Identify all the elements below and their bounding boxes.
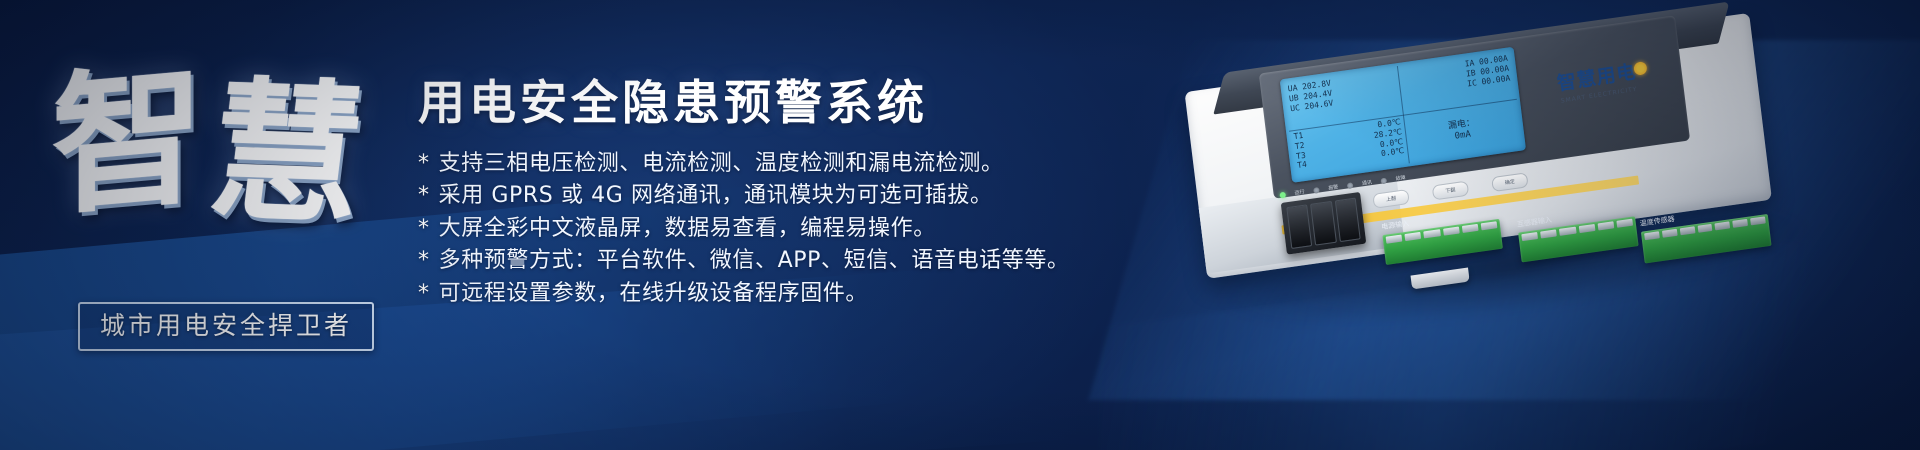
feature-item: *多种预警方式：平台软件、微信、APP、短信、语音电话等等。 — [418, 245, 1138, 278]
calligraphy-brand: 智 慧 — [45, 12, 429, 275]
terminal-pin — [1443, 227, 1460, 236]
feature-text: 多种预警方式：平台软件、微信、APP、短信、语音电话等等。 — [439, 248, 1070, 273]
calligraphy-char-1: 智 — [51, 58, 206, 223]
terminal-pin — [1715, 221, 1731, 230]
bullet-marker-icon: * — [418, 248, 430, 273]
feature-text: 采用 GPRS 或 4G 网络通讯，通讯模块为可选可插拔。 — [439, 183, 993, 208]
terminal-pin — [1462, 224, 1479, 233]
connector-slot — [1310, 201, 1336, 246]
terminal-pin — [1733, 219, 1749, 228]
terminal-pin — [1697, 224, 1713, 233]
slogan-box: 城市用电安全捍卫者 — [78, 302, 374, 351]
terminal-pin — [1424, 229, 1441, 238]
terminal-pin — [1540, 229, 1557, 238]
terminal-pin — [1521, 232, 1538, 241]
bullet-marker-icon: * — [418, 183, 430, 208]
bullet-marker-icon: * — [418, 281, 430, 306]
led-label-alarm: 报警 — [1328, 183, 1339, 191]
sun-icon — [1633, 61, 1648, 76]
feature-item: *支持三相电压检测、电流检测、温度检测和漏电流检测。 — [418, 148, 1138, 181]
terminal-pin — [1616, 219, 1633, 228]
terminal-pin — [1662, 229, 1678, 238]
lcd-leakage-value: 0mA — [1454, 130, 1471, 143]
feature-text: 支持三相电压检测、电流检测、温度检测和漏电流检测。 — [439, 151, 1004, 176]
feature-item: *大屏全彩中文液晶屏，数据易查看，编程易操作。 — [418, 213, 1138, 246]
feature-text: 可远程设置参数，在线升级设备程序固件。 — [439, 281, 868, 306]
terminal-pin — [1578, 224, 1595, 233]
terminal-pin — [1679, 226, 1695, 235]
terminal-pin — [1386, 235, 1403, 244]
copy-block: 用电安全隐患预警系统 *支持三相电压检测、电流检测、温度检测和漏电流检测。 *采… — [418, 78, 1138, 310]
led-indicator-alarm — [1313, 187, 1320, 194]
led-indicator-run — [1279, 191, 1286, 198]
feature-item: *采用 GPRS 或 4G 网络通讯，通讯模块为可选可插拔。 — [418, 180, 1138, 213]
bullet-marker-icon: * — [418, 216, 430, 241]
led-label-comm: 通讯 — [1362, 179, 1373, 187]
terminal-pin — [1597, 221, 1614, 230]
feature-item: *可远程设置参数，在线升级设备程序固件。 — [418, 278, 1138, 311]
headline: 用电安全隐患预警系统 — [418, 78, 1138, 130]
calligraphy-char-2: 慧 — [202, 75, 374, 232]
connector-slot — [1334, 198, 1360, 243]
promo-banner: 智 慧 城市用电安全捍卫者 用电安全隐患预警系统 *支持三相电压检测、电流检测、… — [0, 0, 1920, 450]
led-indicator-fault — [1380, 177, 1387, 184]
lcd-temp-value-4: 0.0℃ — [1380, 146, 1404, 159]
device-button-up[interactable]: 上翻 — [1372, 188, 1409, 208]
bullet-marker-icon: * — [418, 151, 430, 176]
led-label-fault: 故障 — [1395, 174, 1406, 182]
terminal-pin — [1405, 232, 1422, 241]
device-button-confirm[interactable]: 确定 — [1491, 172, 1528, 192]
feature-list: *支持三相电压检测、电流检测、温度检测和漏电流检测。 *采用 GPRS 或 4G… — [418, 148, 1138, 311]
device-button-down[interactable]: 下翻 — [1432, 180, 1469, 200]
led-indicator-comm — [1347, 182, 1354, 189]
slogan-text: 城市用电安全捍卫者 — [100, 313, 352, 338]
led-label-run: 运行 — [1294, 188, 1305, 196]
terminal-pin — [1559, 227, 1576, 236]
lcd-temp-label-4: T4 — [1297, 160, 1308, 171]
terminal-pin — [1481, 221, 1498, 230]
feature-text: 大屏全彩中文液晶屏，数据易查看，编程易操作。 — [439, 216, 936, 241]
terminal-pin — [1644, 231, 1660, 240]
device-black-connector — [1281, 192, 1367, 255]
terminal-pin — [1750, 216, 1766, 225]
connector-slot — [1286, 204, 1312, 249]
